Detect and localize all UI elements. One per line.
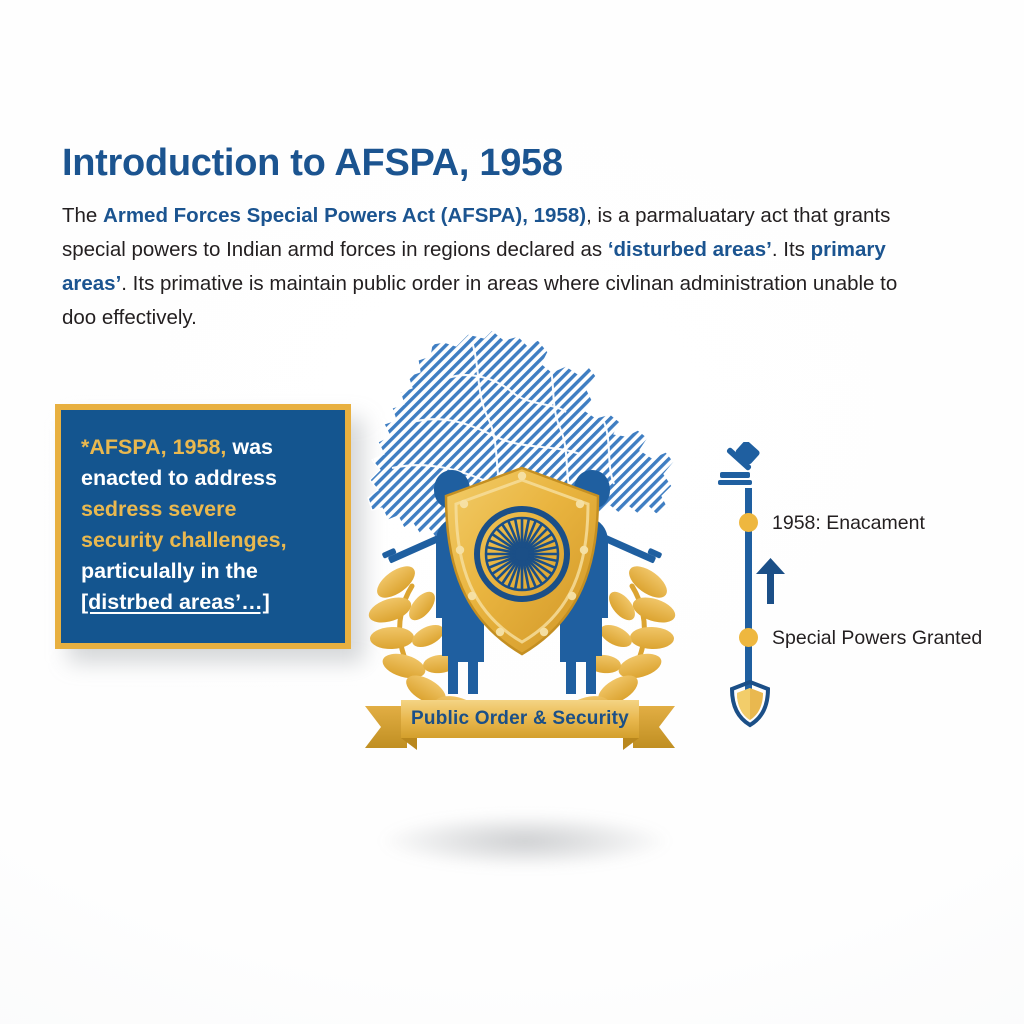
timeline: 1958: Enacament Special Powers Granted: [700, 440, 1000, 720]
paragraph-segment-highlight: ‘disturbed areas’: [608, 238, 772, 261]
shield-icon: [729, 680, 771, 733]
timeline-event-label-1: 1958: Enacament: [772, 512, 925, 535]
callout-text: *AFSPA, 1958, was enacted to address sed…: [81, 432, 327, 618]
callout-line-6: particulally in the: [81, 559, 258, 583]
ground-shadow: [330, 805, 720, 877]
page-title: Introduction to AFSPA, 1958: [62, 143, 942, 185]
central-emblem: [352, 318, 692, 758]
callout-line-5: security challenges,: [81, 528, 287, 552]
callout-line-3: enacted to address: [81, 466, 277, 490]
header-block: Introduction to AFSPA, 1958 The Armed Fo…: [62, 143, 942, 335]
callout-line-2: was: [226, 435, 273, 459]
callout-line-7: [distrbed areas’…]: [81, 590, 270, 614]
banner-label: Public Order & Security: [365, 708, 675, 730]
timeline-event-label-2: Special Powers Granted: [772, 627, 982, 650]
intro-paragraph: The Armed Forces Special Powers Act (AFS…: [62, 199, 924, 335]
timeline-dot-1: [739, 513, 758, 532]
timeline-dot-2: [739, 628, 758, 647]
callout-line-4: sedress severe: [81, 497, 236, 521]
up-arrow-icon: [756, 558, 786, 609]
gavel-icon: [718, 442, 774, 491]
banner: Public Order & Security: [365, 694, 675, 756]
paragraph-segment: . Its: [772, 238, 811, 261]
callout-line-1: *AFSPA, 1958,: [81, 435, 226, 459]
callout-box: *AFSPA, 1958, was enacted to address sed…: [55, 404, 351, 649]
paragraph-segment-highlight: Armed Forces Special Powers Act (AFSPA),…: [103, 204, 586, 227]
paragraph-segment: The: [62, 204, 103, 227]
